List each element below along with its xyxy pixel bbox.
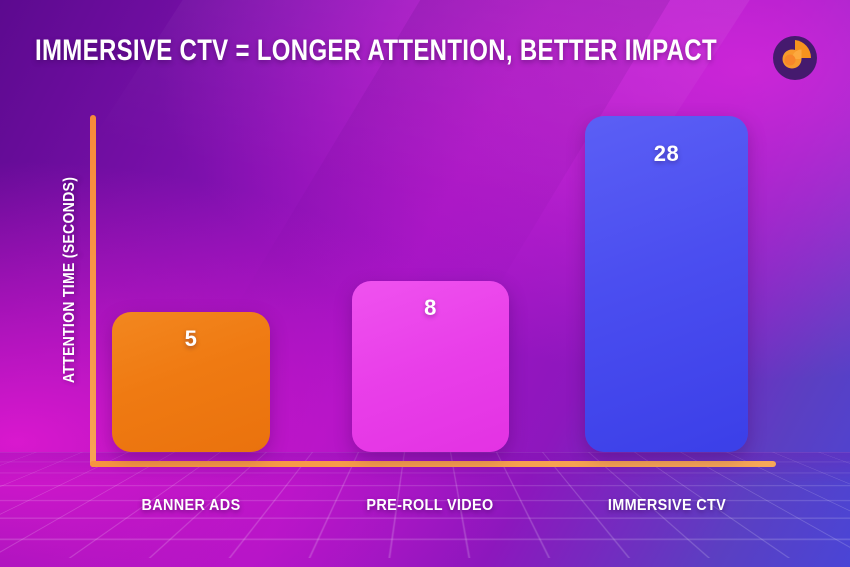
y-axis-title: ATTENTION TIME (SECONDS) bbox=[62, 166, 78, 395]
x-axis-line bbox=[90, 461, 776, 467]
category-label-immersive-ctv: IMMERSIVE CTV bbox=[591, 498, 742, 514]
category-label-banner-ads: BANNER ADS bbox=[119, 498, 263, 514]
y-axis-line bbox=[90, 115, 96, 467]
category-label-pre-roll-video: PRE-ROLL VIDEO bbox=[354, 498, 507, 514]
bar-value-immersive-ctv: 28 bbox=[585, 141, 748, 167]
infographic-canvas: IMMERSIVE CTV = LONGER ATTENTION, BETTER… bbox=[0, 0, 850, 567]
bar-immersive-ctv[interactable]: 28 bbox=[585, 116, 748, 452]
bar-banner-ads[interactable]: 5 bbox=[112, 312, 270, 452]
bar-value-banner-ads: 5 bbox=[112, 326, 270, 352]
brand-logo-icon bbox=[771, 34, 819, 82]
bar-pre-roll-video[interactable]: 8 bbox=[352, 281, 509, 452]
bar-value-pre-roll-video: 8 bbox=[352, 295, 509, 321]
page-title: IMMERSIVE CTV = LONGER ATTENTION, BETTER… bbox=[35, 36, 595, 66]
